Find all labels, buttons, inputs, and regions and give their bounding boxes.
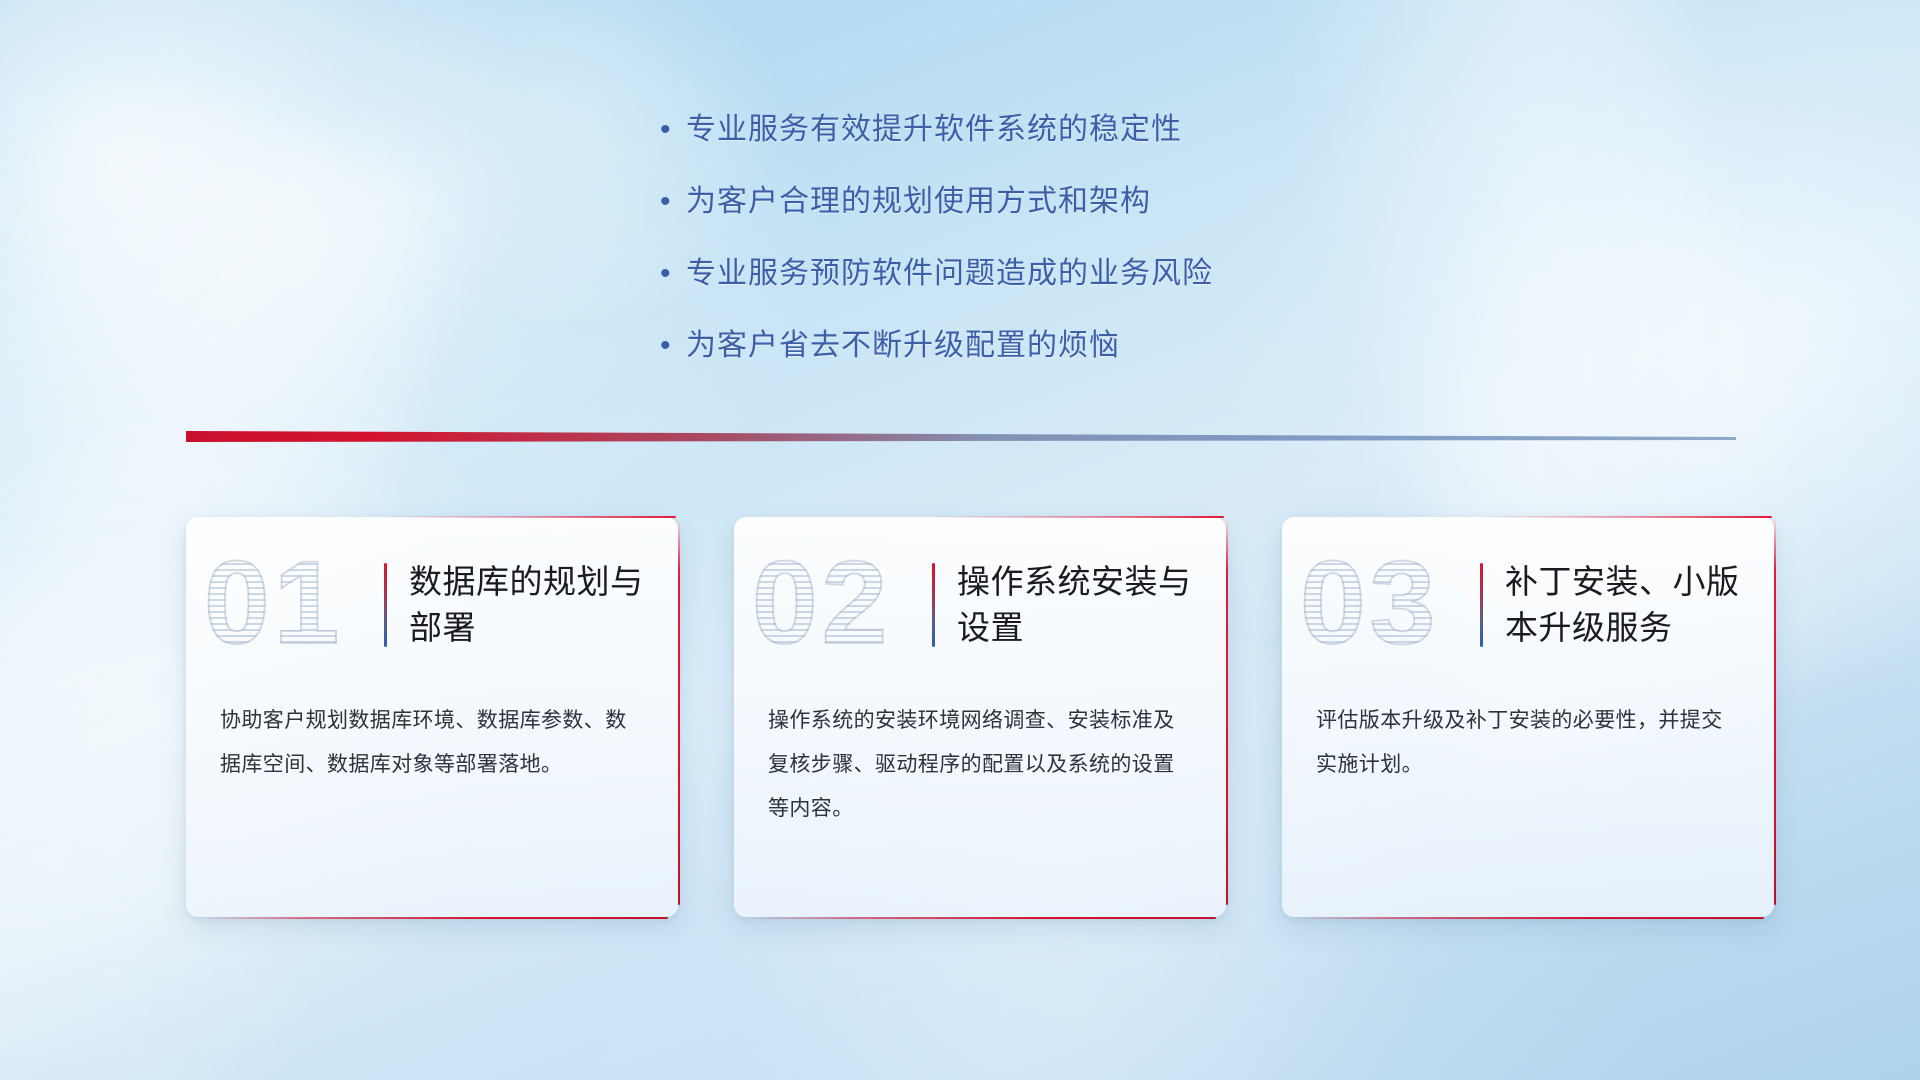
bullet-text: 专业服务预防软件问题造成的业务风险 bbox=[686, 252, 1213, 296]
benefits-bullet-list: • 专业服务有效提升软件系统的稳定性 • 为客户合理的规划使用方式和架构 • 专… bbox=[660, 108, 1480, 396]
bullet-dot-icon: • bbox=[660, 324, 686, 368]
service-card[interactable]: 01 01 数据库的规划与部署 协助客户规划数据库环境、数据库参数、数据库空间、… bbox=[186, 517, 678, 917]
title-accent-bar bbox=[932, 563, 935, 647]
list-item: • 专业服务有效提升软件系统的稳定性 bbox=[660, 108, 1480, 152]
list-item: • 专业服务预防软件问题造成的业务风险 bbox=[660, 252, 1480, 296]
bullet-text: 为客户省去不断升级配置的烦恼 bbox=[686, 324, 1120, 368]
card-body-text: 协助客户规划数据库环境、数据库参数、数据库空间、数据库对象等部署落地。 bbox=[186, 693, 678, 787]
service-card[interactable]: 03 03 补丁安装、小版本升级服务 评估版本升级及补丁安装的必要性，并提交实施… bbox=[1282, 517, 1774, 917]
card-number-watermark: 02 bbox=[752, 533, 891, 673]
section-divider bbox=[186, 425, 1736, 445]
title-accent-bar bbox=[1480, 563, 1483, 647]
bullet-text: 为客户合理的规划使用方式和架构 bbox=[686, 180, 1151, 224]
bullet-text: 专业服务有效提升软件系统的稳定性 bbox=[686, 108, 1182, 152]
list-item: • 为客户合理的规划使用方式和架构 bbox=[660, 180, 1480, 224]
slide-canvas: • 专业服务有效提升软件系统的稳定性 • 为客户合理的规划使用方式和架构 • 专… bbox=[0, 0, 1920, 1080]
card-number-watermark: 01 bbox=[204, 533, 343, 673]
card-title-block: 补丁安装、小版本升级服务 bbox=[1480, 559, 1755, 651]
card-edge-bottom-accent bbox=[200, 917, 668, 920]
card-title: 操作系统安装与设置 bbox=[957, 559, 1207, 651]
card-body-text: 评估版本升级及补丁安装的必要性，并提交实施计划。 bbox=[1282, 693, 1774, 787]
service-card[interactable]: 02 02 操作系统安装与设置 操作系统的安装环境网络调查、安装标准及复核步骤、… bbox=[734, 517, 1226, 917]
card-title-block: 数据库的规划与部署 bbox=[384, 559, 659, 651]
card-edge-bottom-accent bbox=[748, 917, 1216, 920]
bullet-dot-icon: • bbox=[660, 180, 686, 224]
card-header: 01 01 数据库的规划与部署 bbox=[186, 517, 678, 693]
bullet-dot-icon: • bbox=[660, 108, 686, 152]
list-item: • 为客户省去不断升级配置的烦恼 bbox=[660, 324, 1480, 368]
bullet-dot-icon: • bbox=[660, 252, 686, 296]
service-card-group: 01 01 数据库的规划与部署 协助客户规划数据库环境、数据库参数、数据库空间、… bbox=[186, 517, 1796, 917]
card-title: 补丁安装、小版本升级服务 bbox=[1505, 559, 1755, 651]
card-number-watermark: 03 bbox=[1300, 533, 1439, 673]
card-title: 数据库的规划与部署 bbox=[409, 559, 659, 651]
card-header: 02 02 操作系统安装与设置 bbox=[734, 517, 1226, 693]
card-edge-bottom-accent bbox=[1296, 917, 1764, 920]
card-title-block: 操作系统安装与设置 bbox=[932, 559, 1207, 651]
card-header: 03 03 补丁安装、小版本升级服务 bbox=[1282, 517, 1774, 693]
card-body-text: 操作系统的安装环境网络调查、安装标准及复核步骤、驱动程序的配置以及系统的设置等内… bbox=[734, 693, 1226, 831]
title-accent-bar bbox=[384, 563, 387, 647]
light-blob-top-left bbox=[0, 0, 580, 580]
